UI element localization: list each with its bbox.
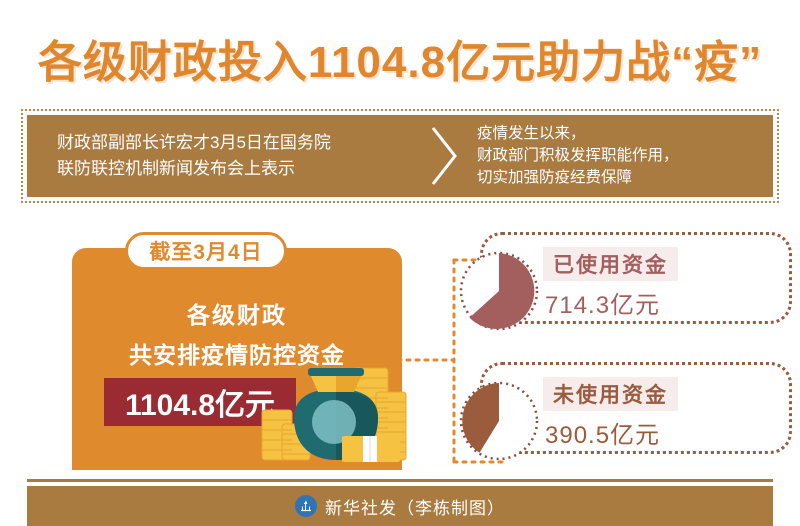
main-card-line-1: 各级财政 <box>72 296 402 330</box>
banner-left-line-1: 财政部副部长许宏才3月5日在国务院 <box>57 130 427 156</box>
footer-credit: 新华社发（李栋制图） <box>27 486 773 526</box>
footer-divider <box>27 479 773 482</box>
breakdown-value: 390.5亿元 <box>545 415 660 450</box>
pie-chart-icon <box>456 378 542 464</box>
banner-right-line-1: 疫情发生以来， <box>477 123 773 145</box>
money-bag-icon <box>258 358 408 470</box>
breakdown-value: 714.3亿元 <box>545 285 660 320</box>
as-of-date-badge: 截至3月4日 <box>125 232 287 270</box>
page-title: 各级财政投入1104.8亿元助力战“疫” <box>0 26 800 90</box>
xinhua-logo-icon <box>295 495 317 517</box>
breakdown-label: 未使用资金 <box>543 377 678 411</box>
banner-left-line-2: 联防联控机制新闻发布会上表示 <box>57 156 427 182</box>
footer-credit-text: 新华社发（李栋制图） <box>325 494 505 519</box>
banner-left-text: 财政部副部长许宏才3月5日在国务院 联防联控机制新闻发布会上表示 <box>27 130 427 182</box>
quote-banner: 财政部副部长许宏才3月5日在国务院 联防联控机制新闻发布会上表示 疫情发生以来，… <box>27 115 773 197</box>
pie-chart-icon <box>456 248 542 334</box>
chevron-right-icon <box>427 124 459 188</box>
banner-right-line-2: 财政部门积极发挥职能作用， <box>477 145 773 167</box>
breakdown-label: 已使用资金 <box>543 247 678 281</box>
infographic-page: 各级财政投入1104.8亿元助力战“疫” 财政部副部长许宏才3月5日在国务院 联… <box>0 0 800 526</box>
banner-right-line-3: 切实加强防疫经费保障 <box>477 167 773 189</box>
banner-right-text: 疫情发生以来， 财政部门积极发挥职能作用， 切实加强防疫经费保障 <box>459 123 773 189</box>
